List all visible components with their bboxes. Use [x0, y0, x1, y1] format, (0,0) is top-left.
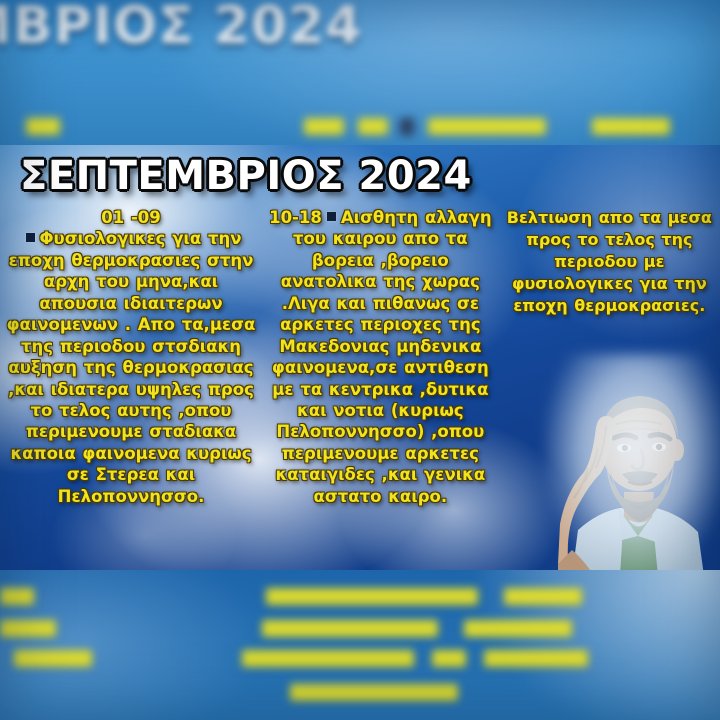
forecast-column-01-09: 01 -09 Φυσιολογικες για την εποχη θερμοκ… [0, 207, 262, 507]
text-fragment [0, 588, 34, 605]
text-fragment [592, 118, 670, 135]
forecast-column-10-18: 10-18Αισθητη αλλαγη του καιρου απο τα βο… [262, 207, 499, 507]
date-range-label: 10-18 [269, 208, 322, 227]
text-fragment [266, 588, 478, 605]
background-text-fragments-bottom-2 [0, 620, 720, 637]
forecast-body-text: Αισθητη αλλαγη του καιρου απο τα βορεια … [272, 208, 492, 506]
text-fragment [428, 118, 546, 135]
text-fragment [400, 118, 414, 135]
forecast-text-block: 10-18Αισθητη αλλαγη του καιρου απο τα βο… [266, 207, 495, 507]
text-fragment [290, 684, 458, 701]
text-fragment [504, 588, 582, 605]
text-fragment [262, 620, 438, 637]
background-title-fragment: ΜΒΡΙΟΣ 2024 [0, 0, 362, 56]
text-fragment [432, 650, 466, 667]
text-fragment [242, 650, 414, 667]
text-fragment [484, 650, 588, 667]
page-title: ΣΕΠΤΕΜΒΡΙΟΣ 2024 [20, 153, 472, 199]
text-fragment [0, 620, 56, 637]
background-text-fragments-bottom-3 [0, 650, 720, 667]
background-text-fragments-top [0, 118, 720, 135]
presenter-photo [558, 364, 714, 570]
text-fragment [14, 650, 92, 667]
forecast-text-block: Βελτιωση απο τα μεσα προς το τελος της π… [505, 207, 714, 317]
photo-cloud-halo [544, 354, 720, 570]
forecast-body-text: Βελτιωση απο τα μεσα προς το τελος της π… [507, 208, 712, 315]
text-fragment [26, 118, 60, 135]
text-fragment [358, 118, 388, 135]
weather-forecast-graphic: ΜΒΡΙΟΣ 2024 ΣΕΠΤΕΜΒΡΙΟΣ 2024 01 [0, 0, 720, 720]
background-text-fragments-bottom-1 [0, 588, 720, 605]
background-text-fragments-bottom-4 [0, 684, 720, 701]
text-fragment [464, 620, 572, 637]
date-range-label: 01 -09 [101, 208, 161, 227]
forecast-body-text: Φυσιολογικες για την εποχη θερμοκρασιες … [7, 229, 256, 505]
forecast-text-block: 01 -09 Φυσιολογικες για την εποχη θερμοκ… [6, 207, 256, 507]
bullet-icon [26, 233, 35, 242]
bullet-icon [327, 212, 336, 221]
forecast-panel: ΣΕΠΤΕΜΒΡΙΟΣ 2024 01 -09 Φυσιολογικες για… [0, 145, 720, 570]
text-fragment [304, 118, 344, 135]
